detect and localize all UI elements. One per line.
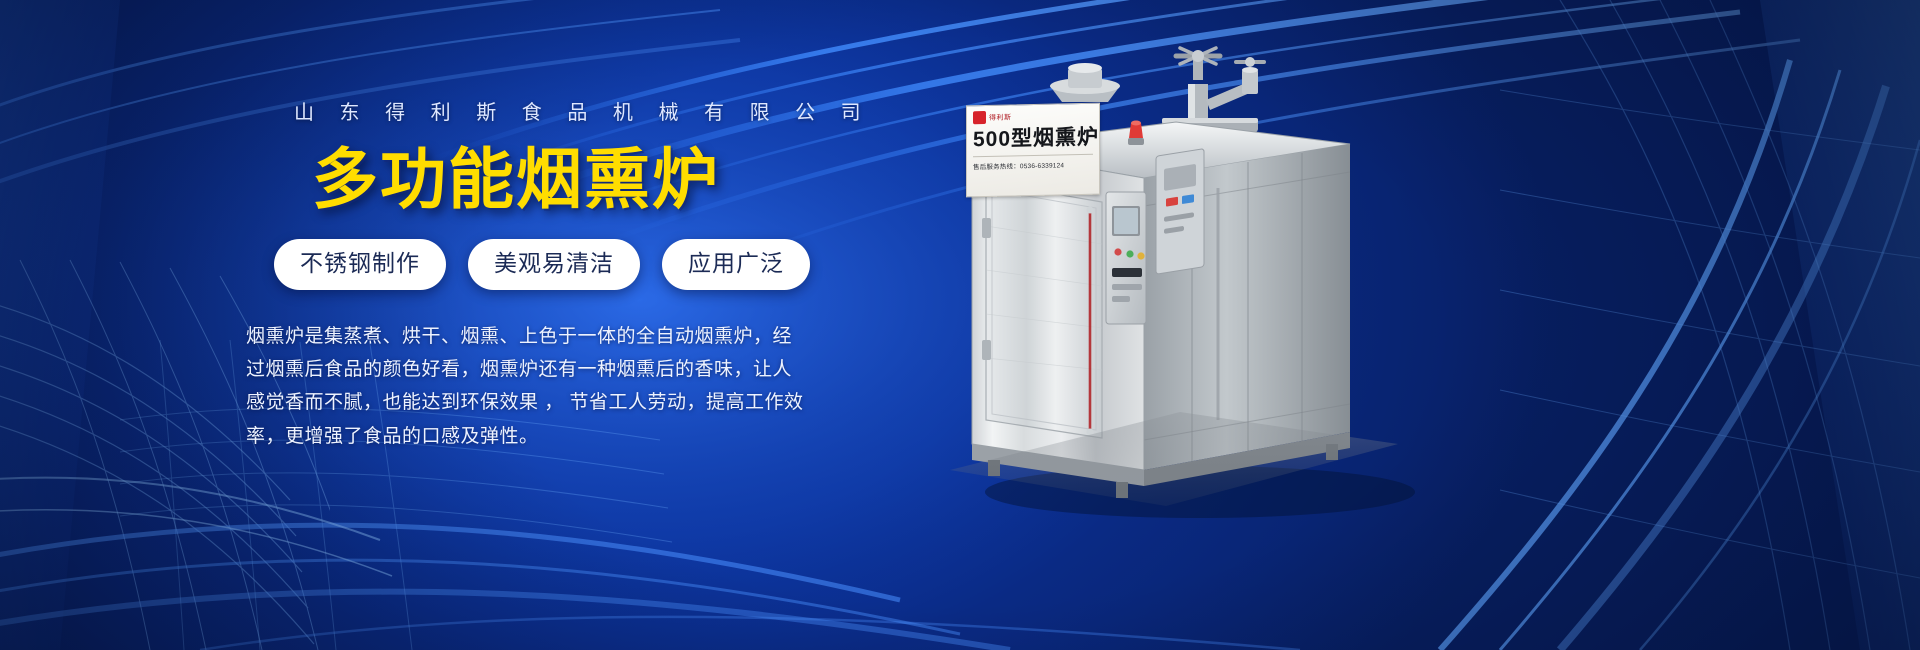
smokehouse-oven-image: 得利斯 500型烟熏炉 售后服务热线：0536-6339124 xyxy=(930,40,1490,540)
service-hotline: 售后服务热线：0536-6339124 xyxy=(973,159,1093,172)
nameplate-brand-row: 得利斯 xyxy=(973,109,1093,125)
promo-banner: 得利斯 500型烟熏炉 售后服务热线：0536-6339124 山 东 得 利 … xyxy=(0,0,1920,650)
feature-pill-list: 不锈钢制作 美观易清洁 应用广泛 xyxy=(246,239,846,290)
machine-nameplate: 得利斯 500型烟熏炉 售后服务热线：0536-6339124 xyxy=(966,103,1100,198)
machine-model: 500型烟熏炉 xyxy=(973,125,1093,154)
feature-pill-easy-clean[interactable]: 美观易清洁 xyxy=(468,239,640,290)
brand-name: 得利斯 xyxy=(989,112,1012,122)
page-title: 多功能烟熏炉 xyxy=(246,143,846,217)
feature-pill-stainless[interactable]: 不锈钢制作 xyxy=(274,239,446,290)
product-description: 烟熏炉是集蒸煮、烘干、烟熏、上色于一体的全自动烟熏炉，经过烟熏后食品的颜色好看，… xyxy=(246,320,811,453)
feature-pill-wide-use[interactable]: 应用广泛 xyxy=(662,239,810,290)
nameplate-divider xyxy=(973,154,1093,158)
brand-logo-icon xyxy=(973,111,986,124)
company-name: 山 东 得 利 斯 食 品 机 械 有 限 公 司 xyxy=(246,96,846,125)
banner-content: 山 东 得 利 斯 食 品 机 械 有 限 公 司 多功能烟熏炉 不锈钢制作 美… xyxy=(246,96,846,453)
